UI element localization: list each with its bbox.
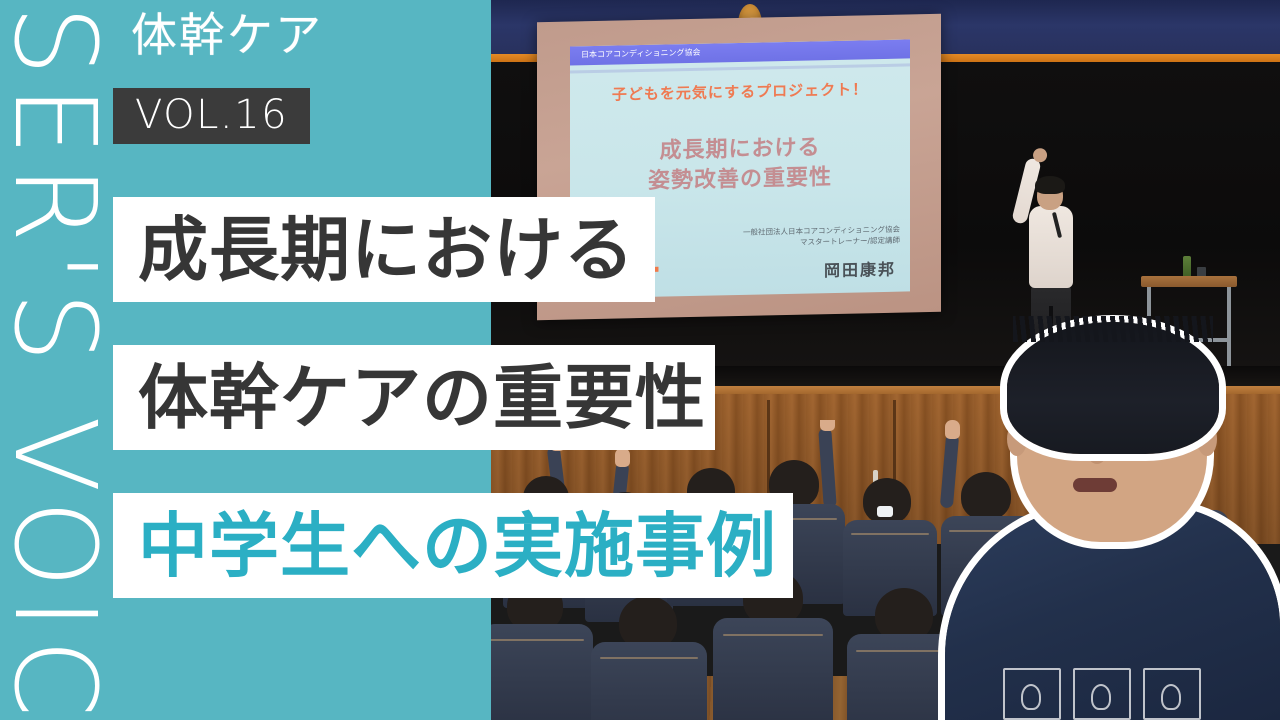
slide-presenter-name: 岡田康邦 bbox=[824, 256, 896, 282]
shirt-graphic-figure bbox=[1091, 684, 1111, 710]
student-uniform bbox=[713, 618, 833, 720]
host-mouth bbox=[1073, 478, 1117, 492]
slide-lead-text: 子どもを元気にするプロジェクト！ bbox=[570, 77, 910, 105]
brand-logo: 体幹ケア bbox=[131, 12, 323, 58]
speaker-hair bbox=[1035, 176, 1065, 194]
slide-header-rule bbox=[570, 63, 910, 73]
shirt-graphic-box bbox=[1143, 668, 1201, 720]
thumbnail-canvas: 日本コアコンディショニング協会 子どもを元気にするプロジェクト！ 成長期における… bbox=[0, 0, 1280, 720]
face-mask bbox=[877, 506, 893, 517]
shirt-graphic-figure bbox=[1161, 684, 1181, 710]
slide-title-line2: 姿勢改善の重要性 bbox=[570, 161, 910, 198]
shirt-graphic-box bbox=[1073, 668, 1131, 720]
title-text-line3: 中学生への実施事例 bbox=[138, 511, 777, 581]
raised-hand bbox=[820, 420, 835, 431]
title-text-line2: 体幹ケアの重要性 bbox=[138, 363, 706, 433]
table-top bbox=[1141, 276, 1237, 287]
raised-arm bbox=[818, 428, 837, 509]
slide-title: 成長期における 姿勢改善の重要性 bbox=[570, 131, 910, 197]
vertical-band-text: USER'S VOICE bbox=[0, 0, 108, 720]
water-bottle bbox=[1183, 256, 1191, 278]
slide-header-bar: 日本コアコンディショニング協会 bbox=[570, 39, 910, 65]
shirt-graphic-figure bbox=[1021, 684, 1041, 710]
slide-header-text: 日本コアコンディショニング協会 bbox=[581, 47, 700, 61]
speaker-jacket bbox=[1029, 206, 1073, 288]
slide-org-credit: 一般社団法人日本コアコンディショニング協会 マスタートレーナー/認定講師 bbox=[743, 223, 900, 249]
host-shirt-graphic bbox=[1003, 668, 1203, 720]
student-uniform bbox=[591, 642, 707, 720]
title-block-line3: 中学生への実施事例 bbox=[113, 493, 793, 598]
host-cutout-portrait bbox=[945, 310, 1280, 720]
host-hair bbox=[1007, 322, 1219, 454]
title-text-line1: 成長期における bbox=[138, 215, 635, 285]
student-uniform bbox=[491, 624, 593, 720]
raised-hand bbox=[615, 448, 630, 467]
student-head bbox=[863, 478, 911, 524]
vertical-band: USER'S VOICE bbox=[0, 0, 108, 720]
title-block-line1: 成長期における bbox=[113, 197, 655, 302]
shirt-graphic-box bbox=[1003, 668, 1061, 720]
title-block-line2: 体幹ケアの重要性 bbox=[113, 345, 715, 450]
volume-badge: VOL.16 bbox=[113, 88, 310, 144]
